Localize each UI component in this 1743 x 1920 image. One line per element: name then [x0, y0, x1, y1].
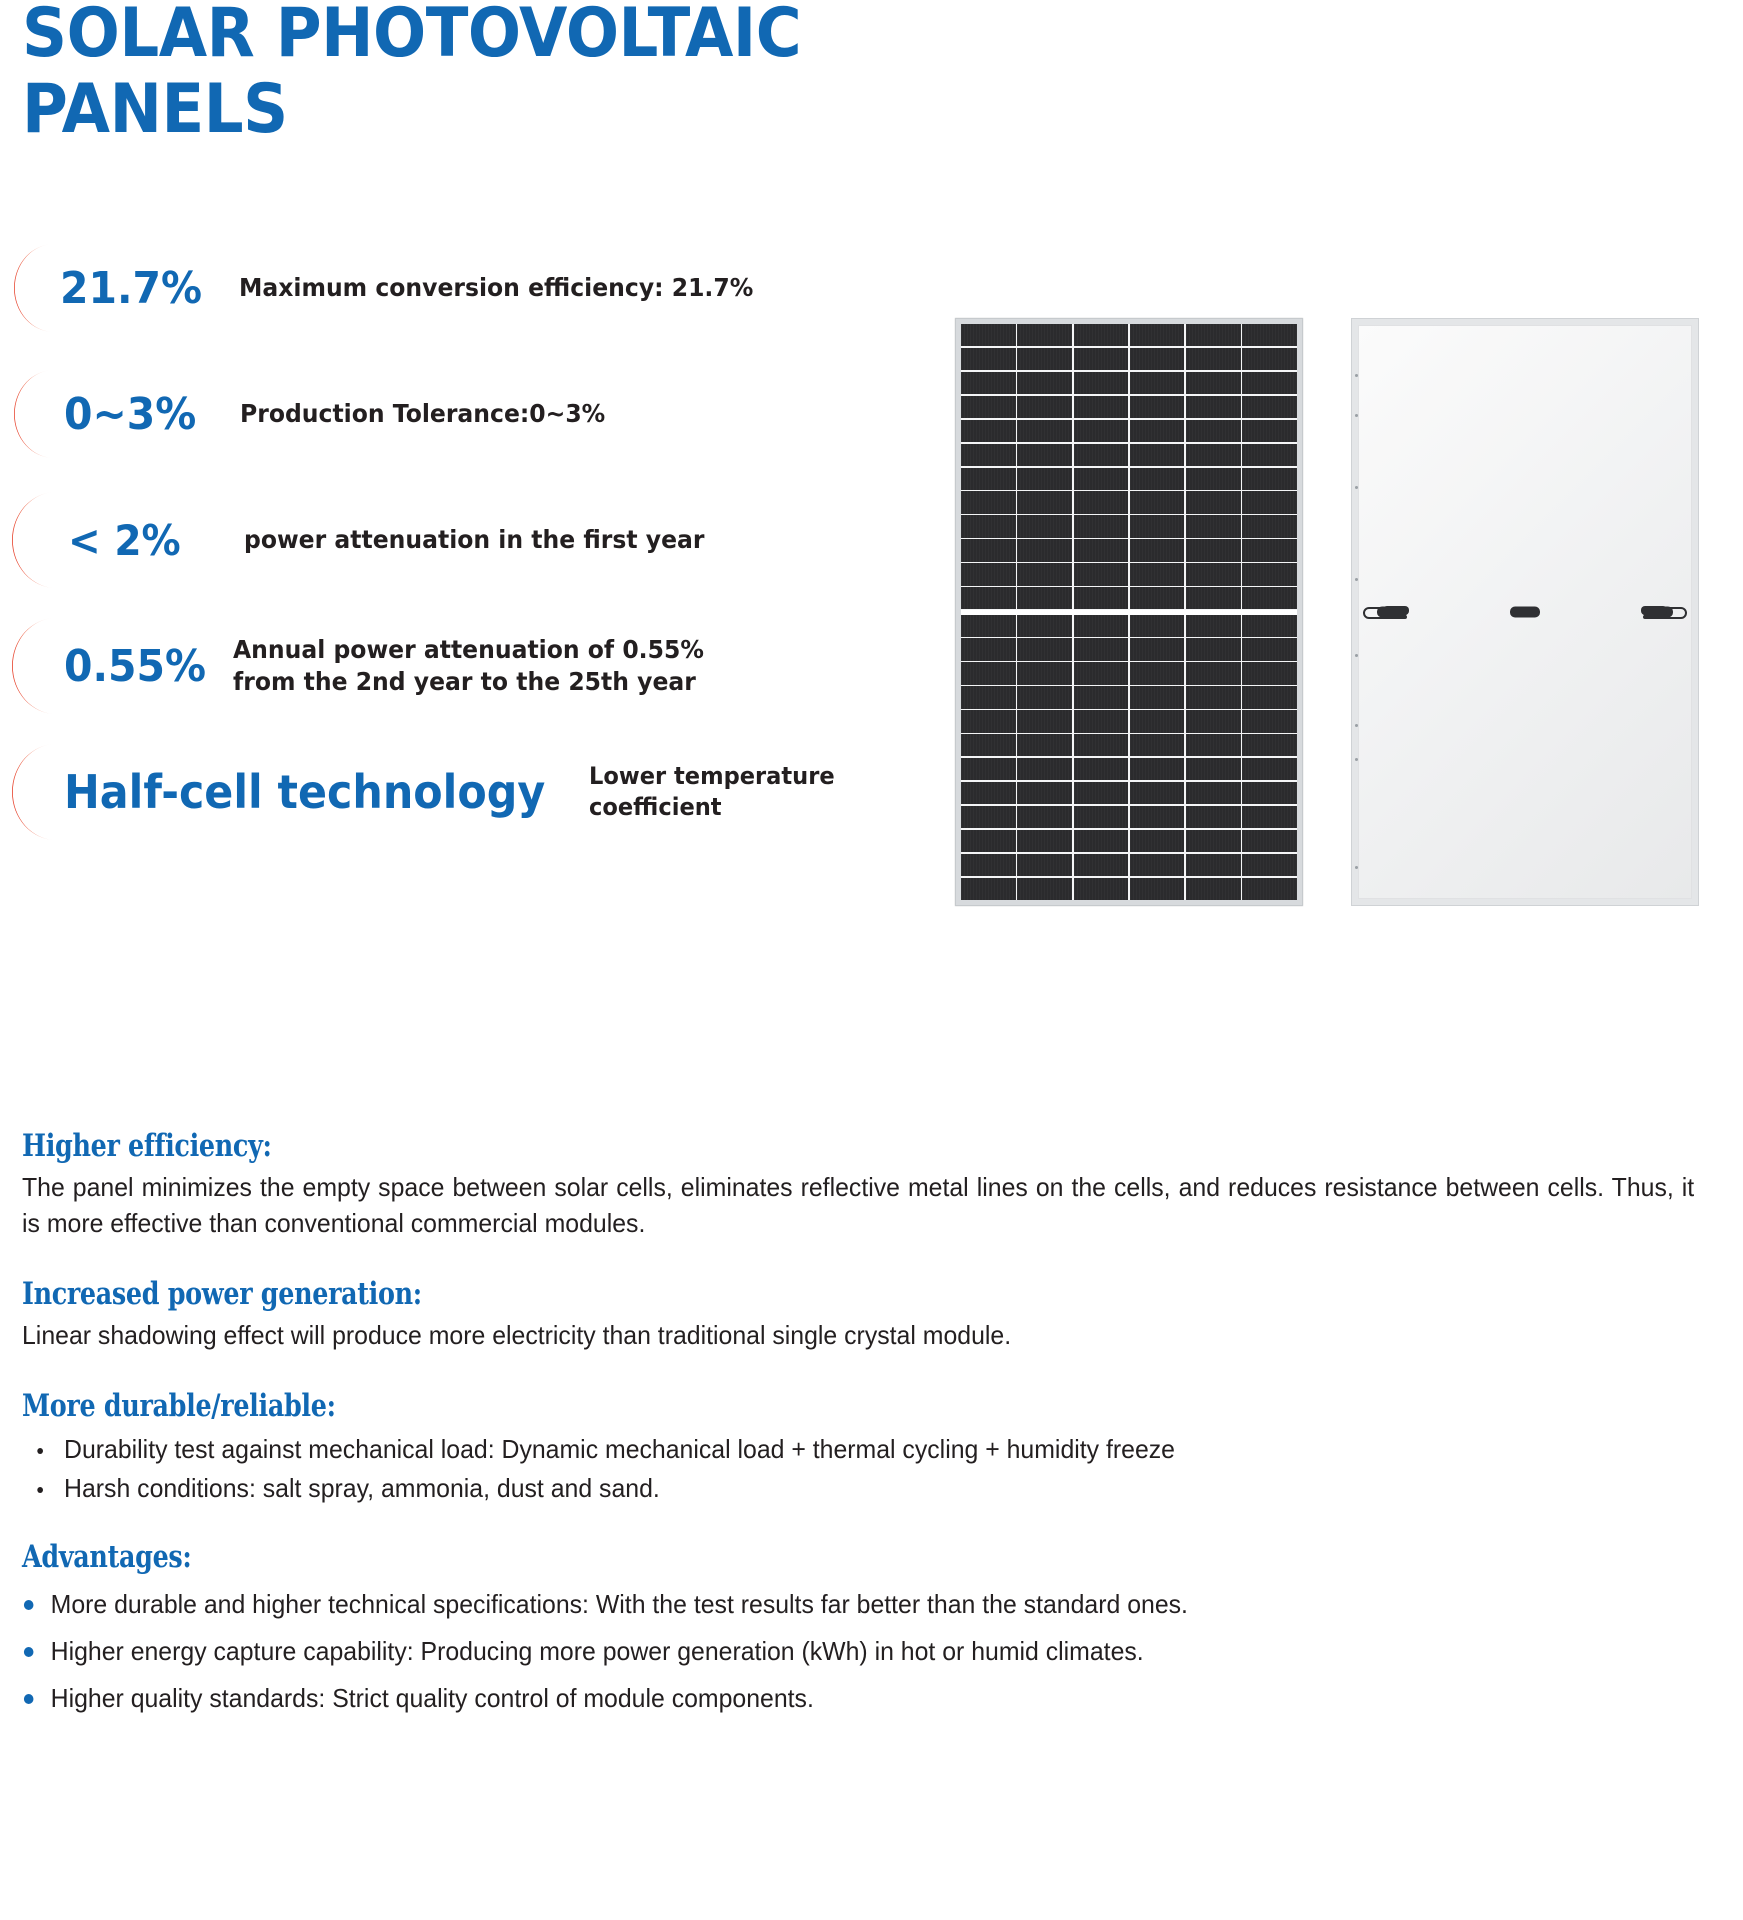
- feature-item-efficiency: 21.7% Maximum conversion efficiency: 21.…: [10, 236, 970, 340]
- solar-panel-back-view: [1351, 318, 1699, 906]
- cell-grid-upper-half: [961, 324, 1297, 610]
- section-higher-efficiency: Higher efficiency: The panel minimizes t…: [22, 1128, 1722, 1242]
- feature-description: Production Tolerance:0~3%: [240, 398, 605, 431]
- feature-list: 21.7% Maximum conversion efficiency: 21.…: [10, 236, 970, 866]
- bullet-list: Durability test against mechanical load:…: [22, 1430, 1722, 1509]
- frame-mounting-hole: [1355, 486, 1358, 489]
- feature-value: 0~3%: [64, 389, 204, 440]
- section-heading: More durable/reliable:: [22, 1388, 1416, 1424]
- section-heading: Advantages:: [22, 1539, 1416, 1575]
- product-images: [955, 318, 1685, 918]
- feature-value: 0.55%: [64, 641, 206, 692]
- section-advantages: Advantages: More durable and higher tech…: [22, 1539, 1722, 1723]
- feature-value: 21.7%: [60, 263, 202, 314]
- junction-box-left: [1377, 607, 1407, 618]
- feature-description: Maximum conversion efficiency: 21.7%: [239, 272, 753, 305]
- feature-item-half-cell: Half-cell technology Lower temperature c…: [10, 740, 970, 844]
- feature-item-tolerance: 0~3% Production Tolerance:0~3%: [10, 362, 970, 466]
- list-item: Higher energy capture capability: Produc…: [22, 1628, 1646, 1675]
- cable-connector-right: [1633, 604, 1689, 620]
- panel-front-laminate: [961, 324, 1297, 900]
- description-sections: Higher efficiency: The panel minimizes t…: [22, 1128, 1722, 1757]
- junction-box-center: [1510, 607, 1540, 618]
- section-heading: Higher efficiency:: [22, 1128, 1416, 1164]
- page-title-line-2: PANELS: [22, 72, 1034, 148]
- frame-mounting-hole: [1355, 758, 1358, 761]
- frame-mounting-hole: [1355, 724, 1358, 727]
- page-title: SOLAR PHOTOVOLTAIC PANELS: [22, 0, 1122, 148]
- feature-description: power attenuation in the first year: [244, 524, 704, 557]
- bullet-list: More durable and higher technical specif…: [22, 1581, 1722, 1723]
- section-paragraph: The panel minimizes the empty space betw…: [22, 1170, 1694, 1242]
- feature-value: Half-cell technology: [64, 765, 510, 819]
- frame-mounting-hole: [1355, 866, 1358, 869]
- feature-value: < 2%: [68, 516, 208, 565]
- feature-item-annual-attenuation: 0.55% Annual power attenuation of 0.55% …: [10, 614, 970, 718]
- feature-description: Lower temperature coefficient: [589, 761, 947, 823]
- frame-mounting-hole: [1355, 374, 1358, 377]
- panel-backsheet: [1358, 325, 1692, 899]
- feature-item-first-year-attenuation: < 2% power attenuation in the first year: [10, 488, 970, 592]
- frame-mounting-hole: [1355, 654, 1358, 657]
- list-item: Higher quality standards: Strict quality…: [22, 1675, 1646, 1722]
- section-heading: Increased power generation:: [22, 1276, 1416, 1312]
- list-item: More durable and higher technical specif…: [22, 1581, 1646, 1628]
- frame-mounting-hole: [1355, 414, 1358, 417]
- section-increased-power-generation: Increased power generation: Linear shado…: [22, 1276, 1722, 1354]
- frame-mounting-hole: [1355, 578, 1358, 581]
- list-item: Durability test against mechanical load:…: [22, 1430, 1646, 1470]
- cell-grid-lower-half: [961, 615, 1297, 901]
- solar-panel-front-view: [955, 318, 1303, 906]
- product-spec-sheet: SOLAR PHOTOVOLTAIC PANELS 21.7%: [0, 0, 1743, 1920]
- page-title-line-1: SOLAR PHOTOVOLTAIC: [22, 0, 1034, 72]
- section-paragraph: Linear shadowing effect will produce mor…: [22, 1318, 1694, 1354]
- list-item: Harsh conditions: salt spray, ammonia, d…: [22, 1469, 1646, 1509]
- feature-description: Annual power attenuation of 0.55% from t…: [233, 634, 704, 699]
- section-more-durable-reliable: More durable/reliable: Durability test a…: [22, 1388, 1722, 1509]
